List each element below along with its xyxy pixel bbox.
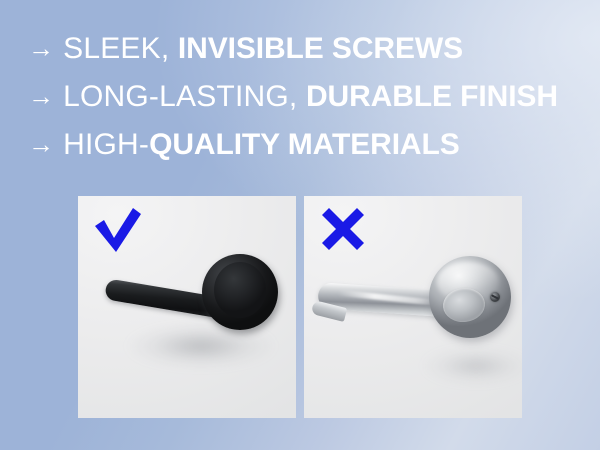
- product-photo-bad: [304, 196, 522, 418]
- bullet-line-1: →SLEEK, INVISIBLE SCREWS: [28, 24, 588, 72]
- bullet-2-bold-text: DURABLE FINISH: [306, 80, 558, 113]
- cross-icon: [322, 208, 364, 250]
- bullet-3-bold-text: QUALITY MATERIALS: [149, 128, 460, 161]
- arrow-icon: →: [28, 72, 54, 120]
- arrow-icon: →: [28, 120, 54, 168]
- bullet-3-light-text: HIGH-: [63, 128, 149, 161]
- lever-shadow: [422, 348, 522, 384]
- check-icon: [95, 208, 141, 252]
- arrow-icon: →: [28, 24, 54, 72]
- product-photo-good: [78, 196, 296, 418]
- bullet-1-light-text: SLEEK,: [63, 32, 178, 65]
- exposed-screw-icon: [490, 292, 500, 302]
- bullet-1-bold-text: INVISIBLE SCREWS: [178, 32, 463, 65]
- promo-poster: →SLEEK, INVISIBLE SCREWS →LONG-LASTING, …: [0, 0, 600, 450]
- lever-rose-inner: [214, 262, 266, 318]
- bullet-line-2: →LONG-LASTING, DURABLE FINISH: [28, 72, 588, 120]
- bullet-line-3: →HIGH-QUALITY MATERIALS: [28, 120, 588, 168]
- headline-list: →SLEEK, INVISIBLE SCREWS →LONG-LASTING, …: [28, 24, 588, 168]
- lever-shadow: [126, 324, 276, 368]
- bullet-2-light-text: LONG-LASTING,: [63, 80, 306, 113]
